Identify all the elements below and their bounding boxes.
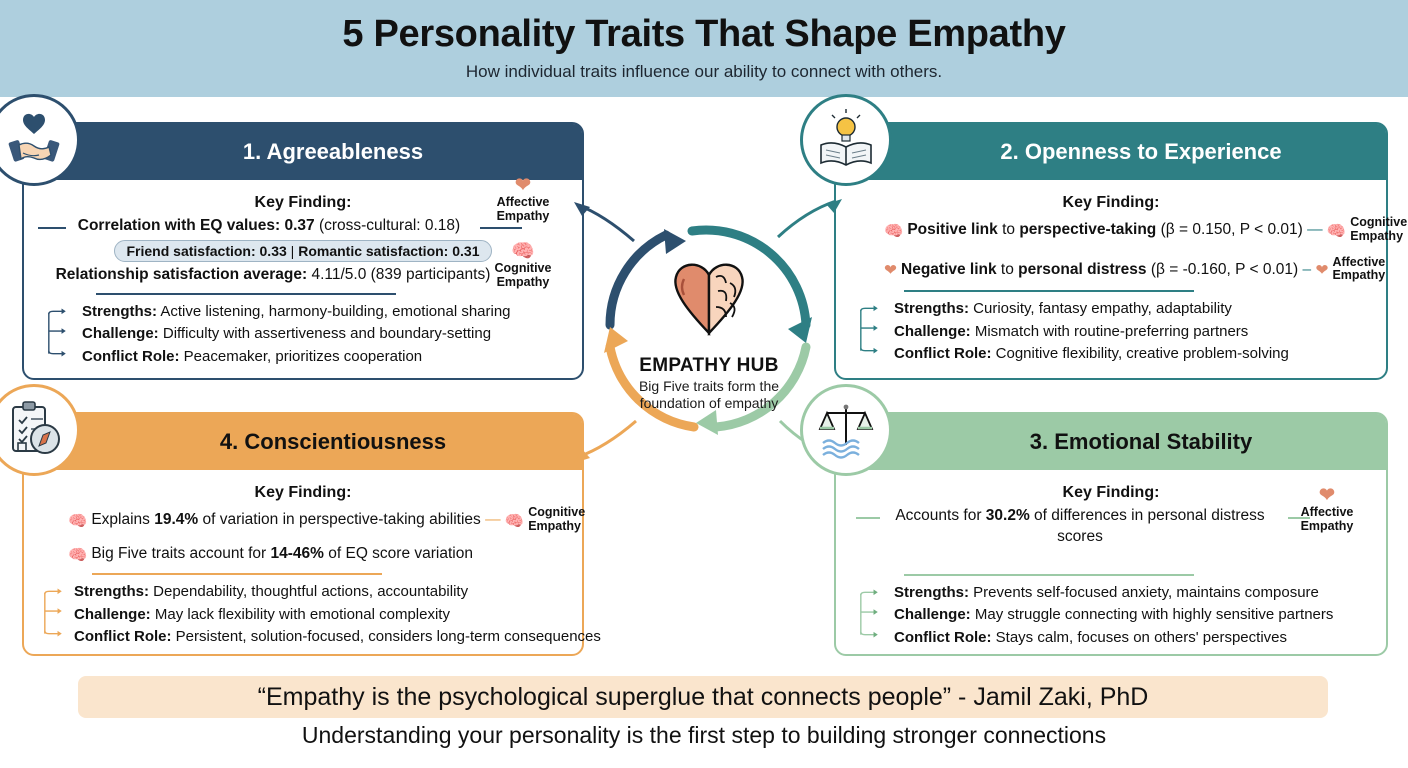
trait-card-conscientiousness[interactable]: 4. Conscientiousness Key Finding: 🧠Expla… — [22, 412, 584, 656]
card-title: 2. Openness to Experience — [940, 139, 1281, 165]
pill-friend: Friend satisfaction: 0.33 — [127, 243, 287, 259]
finding-line-2: ❤Negative link to personal distress (β =… — [848, 256, 1374, 284]
bullet-list: Strengths: Dependability, thoughtful act… — [36, 581, 570, 649]
bullet-text: Prevents self-focused anxiety, maintains… — [969, 584, 1319, 601]
brain-icon: 🧠 — [505, 512, 524, 533]
heart-icon: ❤ — [1315, 261, 1328, 282]
leader-line-left — [856, 517, 880, 519]
card-title: 1. Agreeableness — [183, 139, 423, 165]
tag-line-1: Affective — [1332, 255, 1385, 269]
card-header-emotional-stability: 3. Emotional Stability — [836, 414, 1386, 470]
list-item: Strengths: Curiosity, fantasy empathy, a… — [894, 298, 1374, 321]
trait-card-emotional-stability[interactable]: 3. Emotional Stability Key Finding: Acco… — [834, 412, 1388, 656]
card-body-openness: Key Finding: 🧠Positive link to perspecti… — [836, 180, 1386, 376]
finding-1-mid: to — [998, 221, 1020, 238]
finding-1-bold-2: perspective-taking — [1019, 221, 1156, 238]
finding-bold: 30.2% — [986, 507, 1030, 524]
card-title: 3. Emotional Stability — [970, 429, 1252, 455]
card-header-openness: 2. Openness to Experience — [836, 124, 1386, 180]
card-title: 4. Conscientiousness — [160, 429, 446, 455]
leader-dash: – — [1298, 260, 1315, 277]
list-item: Conflict Role: Cognitive flexibility, cr… — [894, 343, 1374, 366]
satisfaction-pill: Friend satisfaction: 0.33 | Romantic sat… — [114, 240, 493, 262]
finding-1-rest: (β = 0.150, P < 0.01) — [1156, 221, 1303, 238]
bullet-text: Dependability, thoughtful actions, accou… — [149, 583, 468, 600]
finding-1-bold: 19.4% — [154, 511, 198, 528]
finding-2-pre: Big Five traits account for — [91, 545, 270, 562]
bullet-text: Active listening, harmony-building, emot… — [157, 303, 511, 320]
quote-banner: “Empathy is the psychological superglue … — [78, 676, 1328, 718]
bullet-text: Cognitive flexibility, creative problem-… — [992, 345, 1289, 362]
bullet-bracket — [46, 299, 70, 373]
tag-line-2: Empathy — [1301, 519, 1354, 533]
card-body-emotional-stability: Key Finding: Accounts for 30.2% of diffe… — [836, 470, 1386, 659]
tag-line-1: Affective — [497, 195, 550, 209]
bullet-text: Mismatch with routine-preferring partner… — [971, 323, 1249, 340]
infographic-page: 5 Personality Traits That Shape Empathy … — [0, 0, 1408, 768]
card-body-agreeableness: Key Finding: Correlation with EQ values:… — [24, 180, 582, 378]
arrow-navy-arc — [610, 235, 666, 325]
section-divider — [92, 573, 382, 575]
bullet-label: Challenge: — [894, 323, 971, 340]
tag-line-1: Cognitive — [1350, 215, 1407, 229]
finding-1-bold: Positive link — [907, 221, 997, 238]
hub-title: EMPATHY HUB — [566, 355, 852, 377]
bullet-label: Strengths: — [74, 583, 149, 600]
list-item: Conflict Role: Stays calm, focuses on ot… — [894, 627, 1374, 650]
list-item: Strengths: Dependability, thoughtful act… — [74, 581, 570, 604]
pill-separator: | — [287, 243, 298, 259]
list-item: Conflict Role: Persistent, solution-focu… — [74, 626, 570, 649]
bullet-label: Challenge: — [82, 325, 159, 342]
leader-line-right — [480, 227, 522, 229]
tag-line-2: Empathy — [1332, 268, 1385, 282]
bullet-list: Strengths: Curiosity, fantasy empathy, a… — [848, 298, 1374, 366]
finding-2-rest: 4.11/5.0 (839 participants) — [307, 266, 490, 283]
affective-empathy-tag: ❤ Affective Empathy — [484, 176, 562, 224]
tag-label: CognitiveEmpathy — [528, 506, 585, 534]
hub-subtitle-line1: Big Five traits form the — [639, 378, 779, 394]
bullet-list: Strengths: Active listening, harmony-bui… — [36, 301, 570, 369]
leader-line-left — [38, 227, 66, 229]
leader-dash: — — [1303, 221, 1327, 238]
leader-dash: — — [481, 511, 505, 528]
brain-icon: 🧠 — [484, 242, 562, 261]
tag-label: CognitiveEmpathy — [1350, 216, 1407, 244]
bullet-label: Challenge: — [74, 606, 151, 623]
finding-1-bold: Correlation with EQ values: 0.37 — [78, 217, 315, 234]
finding-1-pre: Explains — [91, 511, 154, 528]
connector-head-card1 — [574, 202, 590, 216]
heart-icon: 🧠 — [884, 222, 903, 243]
bullet-label: Conflict Role: — [894, 629, 992, 646]
finding-post: of differences in personal distress scor… — [1030, 507, 1265, 545]
page-header-banner: 5 Personality Traits That Shape Empathy … — [0, 0, 1408, 97]
bullet-text: May lack flexibility with emotional comp… — [151, 606, 450, 623]
brain-icon: 🧠 — [68, 546, 87, 567]
tag-line-2: Empathy — [528, 519, 581, 533]
tag-line-1: Cognitive — [528, 505, 585, 519]
bullet-label: Conflict Role: — [74, 628, 172, 645]
list-item: Strengths: Active listening, harmony-bui… — [82, 301, 570, 324]
scales-water-icon — [800, 384, 892, 476]
finding-line-2: 🧠Big Five traits account for 14-46% of E… — [36, 544, 570, 567]
finding-2-bold: 14-46% — [271, 545, 324, 562]
arrow-orange-head — [604, 327, 628, 353]
cognitive-empathy-tag: 🧠 Cognitive Empathy — [484, 242, 562, 290]
tag-line-2: Empathy — [1350, 229, 1403, 243]
tag-label: AffectiveEmpathy — [1332, 256, 1385, 284]
finding-2-post: of EQ score variation — [324, 545, 473, 562]
bullet-text: Peacemaker, prioritizes cooperation — [180, 348, 423, 365]
list-item: Challenge: May struggle connecting with … — [894, 604, 1374, 627]
section-divider — [96, 293, 396, 295]
connector-head-card4 — [574, 449, 590, 463]
bullet-text: Stays calm, focuses on others' perspecti… — [992, 629, 1288, 646]
arrow-green-head — [696, 410, 718, 435]
bullet-bracket — [858, 296, 882, 370]
page-title: 5 Personality Traits That Shape Empathy — [342, 15, 1065, 55]
clipboard-compass-icon — [0, 384, 80, 476]
hub-subtitle-line2: foundation of empathy — [640, 395, 779, 411]
bullet-label: Conflict Role: — [894, 345, 992, 362]
card-header-agreeableness: 1. Agreeableness — [24, 124, 582, 180]
trait-card-agreeableness[interactable]: 1. Agreeableness Key Finding: Correlatio… — [22, 122, 584, 380]
handshake-heart-icon — [0, 94, 80, 186]
bullet-text: Curiosity, fantasy empathy, adaptability — [969, 300, 1232, 317]
page-subtitle: How individual traits influence our abil… — [466, 62, 942, 82]
connector-to-card4 — [578, 421, 636, 457]
heart-brain-icon — [675, 265, 742, 333]
list-item: Strengths: Prevents self-focused anxiety… — [894, 582, 1374, 605]
finding-2-bold: Relationship satisfaction average: — [56, 266, 308, 283]
key-finding-label: Key Finding: — [36, 484, 570, 502]
section-divider — [904, 574, 1194, 576]
finding-1-rest: (cross-cultural: 0.18) — [315, 217, 461, 234]
footer-tagline: Understanding your personality is the fi… — [0, 722, 1408, 749]
brain-icon: 🧠 — [1327, 222, 1346, 243]
heart-icon: ❤ — [1288, 486, 1366, 505]
brain-icon: 🧠 — [68, 512, 87, 533]
tag-line-2: Empathy — [497, 275, 550, 289]
list-item: Challenge: Difficulty with assertiveness… — [82, 323, 570, 346]
connector-to-card2 — [778, 201, 836, 237]
tag-line-1: Affective — [1301, 505, 1354, 519]
bullet-bracket — [42, 579, 66, 653]
book-lightbulb-icon — [800, 94, 892, 186]
pill-romantic: Romantic satisfaction: 0.31 — [298, 243, 479, 259]
bullet-label: Challenge: — [894, 606, 971, 623]
finding-pre: Accounts for — [895, 507, 985, 524]
tag-line-1: Cognitive — [495, 261, 552, 275]
arrow-teal-head — [788, 317, 812, 343]
bullet-label: Strengths: — [894, 584, 969, 601]
heart-icon: ❤ — [884, 261, 897, 282]
affective-empathy-tag: ❤ Affective Empathy — [1288, 486, 1366, 534]
bullet-text: May struggle connecting with highly sens… — [971, 606, 1334, 623]
bullet-text: Difficulty with assertiveness and bounda… — [159, 325, 491, 342]
list-item: Challenge: May lack flexibility with emo… — [74, 604, 570, 627]
bullet-bracket — [858, 580, 882, 654]
list-item: Challenge: Mismatch with routine-preferr… — [894, 321, 1374, 344]
quote-text: “Empathy is the psychological superglue … — [258, 683, 1149, 712]
key-finding-label: Key Finding: — [848, 194, 1374, 212]
finding-2-rest: (β = -0.160, P < 0.01) — [1147, 260, 1299, 277]
finding-line-1: 🧠Positive link to perspective-taking (β … — [848, 216, 1374, 244]
bullet-list: Strengths: Prevents self-focused anxiety… — [848, 582, 1374, 650]
finding-2-bold-2: personal distress — [1018, 260, 1146, 277]
finding-1-post: of variation in perspective-taking abili… — [198, 511, 481, 528]
section-divider — [904, 290, 1194, 292]
finding-2-bold: Negative link — [901, 260, 997, 277]
finding-2-mid: to — [997, 260, 1019, 277]
bullet-label: Strengths: — [82, 303, 157, 320]
bullet-label: Strengths: — [894, 300, 969, 317]
card-header-conscientiousness: 4. Conscientiousness — [24, 414, 582, 470]
list-item: Conflict Role: Peacemaker, prioritizes c… — [82, 346, 570, 369]
trait-card-openness[interactable]: 2. Openness to Experience Key Finding: 🧠… — [834, 122, 1388, 380]
bullet-text: Persistent, solution-focused, considers … — [172, 628, 601, 645]
arrow-navy-head — [664, 229, 686, 254]
tag-line-2: Empathy — [497, 209, 550, 223]
card-body-conscientiousness: Key Finding: 🧠Explains 19.4% of variatio… — [24, 470, 582, 659]
bullet-label: Conflict Role: — [82, 348, 180, 365]
finding-line-1: 🧠Explains 19.4% of variation in perspect… — [36, 506, 570, 534]
heart-icon: ❤ — [484, 176, 562, 195]
